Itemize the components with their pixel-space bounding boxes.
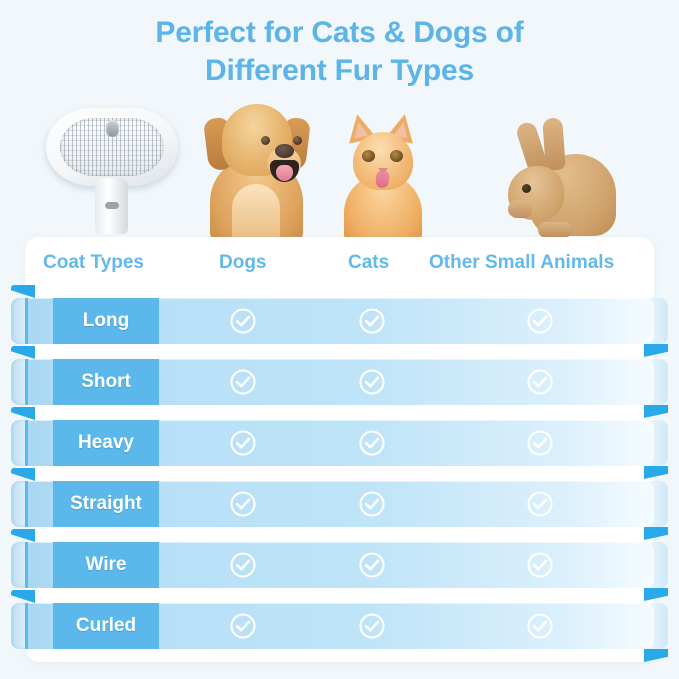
row-band-edge	[25, 359, 28, 405]
brush-release-button	[106, 120, 119, 137]
row-band: Heavy	[25, 420, 654, 466]
rabbit-photo	[500, 110, 620, 242]
column-header-coat-types: Coat Types	[43, 252, 144, 274]
check-circle-icon	[358, 368, 386, 396]
coat-type-label: Curled	[76, 615, 136, 637]
table-row[interactable]: Long	[0, 298, 679, 344]
check-circle-icon	[358, 490, 386, 518]
ribbon-notch-left-icon	[11, 590, 35, 603]
row-band: Wire	[25, 542, 654, 588]
ribbon-notch-right-icon	[644, 588, 668, 601]
dog-head	[222, 104, 292, 176]
row-band-edge	[25, 603, 28, 649]
cat-photo	[334, 114, 430, 242]
ribbon-notch-left-icon	[11, 346, 35, 359]
check-circle-icon	[526, 551, 554, 579]
check-circle-icon	[526, 429, 554, 457]
check-circle-icon	[229, 307, 257, 335]
check-circle-icon	[358, 307, 386, 335]
table-row[interactable]: Curled	[0, 603, 679, 649]
coat-type-label: Wire	[85, 554, 126, 576]
coat-type-label: Straight	[70, 493, 142, 515]
ribbon-notch-right-icon	[644, 405, 668, 418]
dog-eye-right	[293, 136, 302, 145]
rabbit-foot	[538, 222, 572, 238]
ribbon-notch-right-icon	[644, 649, 668, 662]
row-band-edge	[25, 542, 28, 588]
dog-nose	[275, 144, 294, 158]
rabbit-eye	[522, 184, 531, 193]
check-circle-icon	[229, 612, 257, 640]
check-circle-icon	[229, 551, 257, 579]
hero-image-strip	[0, 92, 679, 247]
ribbon-notch-right-icon	[644, 527, 668, 540]
coat-type-label: Long	[83, 310, 129, 332]
page-title-line-1: Perfect for Cats & Dogs of	[0, 14, 679, 52]
ribbon-notch-left-icon	[11, 529, 35, 542]
table-row[interactable]: Straight	[0, 481, 679, 527]
page-title: Perfect for Cats & Dogs of Different Fur…	[0, 14, 679, 89]
check-circle-icon	[526, 368, 554, 396]
check-circle-icon	[526, 490, 554, 518]
check-circle-icon	[229, 368, 257, 396]
ribbon-notch-right-icon	[644, 344, 668, 357]
check-circle-icon	[358, 551, 386, 579]
check-circle-icon	[526, 612, 554, 640]
check-circle-icon	[358, 429, 386, 457]
page-title-line-2: Different Fur Types	[0, 52, 679, 90]
table-row[interactable]: Short	[0, 359, 679, 405]
row-band: Curled	[25, 603, 654, 649]
coat-type-chip[interactable]: Long	[53, 298, 159, 344]
column-header-other-small-animals: Other Small Animals	[429, 252, 614, 274]
coat-type-chip[interactable]: Short	[53, 359, 159, 405]
brush-handle-slot	[105, 202, 119, 209]
rabbit-snout	[508, 200, 532, 218]
dog-chest	[232, 184, 280, 244]
row-band-edge	[25, 481, 28, 527]
row-band-edge	[25, 420, 28, 466]
check-circle-icon	[526, 307, 554, 335]
coat-type-label: Heavy	[78, 432, 134, 454]
dog-eye-left	[261, 136, 270, 145]
cat-eye-left	[362, 150, 375, 162]
ribbon-notch-right-icon	[644, 466, 668, 479]
cat-nose	[378, 168, 388, 174]
coat-type-chip[interactable]: Wire	[53, 542, 159, 588]
ribbon-notch-left-icon	[11, 407, 35, 420]
coat-type-chip[interactable]: Straight	[53, 481, 159, 527]
coat-type-chip[interactable]: Curled	[53, 603, 159, 649]
cat-eye-right	[390, 150, 403, 162]
row-band-edge	[25, 298, 28, 344]
dog-photo	[196, 92, 316, 242]
brush-head	[46, 108, 178, 186]
row-band: Long	[25, 298, 654, 344]
ribbon-notch-left-icon	[11, 468, 35, 481]
ribbon-notch-left-icon	[11, 285, 35, 298]
column-header-cats: Cats	[348, 252, 389, 274]
coat-type-label: Short	[81, 371, 131, 393]
row-band: Short	[25, 359, 654, 405]
column-header-dogs: Dogs	[219, 252, 267, 274]
table-header-row: Coat Types Dogs Cats Other Small Animals	[25, 237, 654, 295]
row-band: Straight	[25, 481, 654, 527]
check-circle-icon	[358, 612, 386, 640]
check-circle-icon	[229, 490, 257, 518]
table-row[interactable]: Heavy	[0, 420, 679, 466]
pet-grooming-brush	[38, 102, 188, 242]
cat-ear-inner-left	[352, 121, 369, 139]
coat-type-chip[interactable]: Heavy	[53, 420, 159, 466]
table-row[interactable]: Wire	[0, 542, 679, 588]
check-circle-icon	[229, 429, 257, 457]
